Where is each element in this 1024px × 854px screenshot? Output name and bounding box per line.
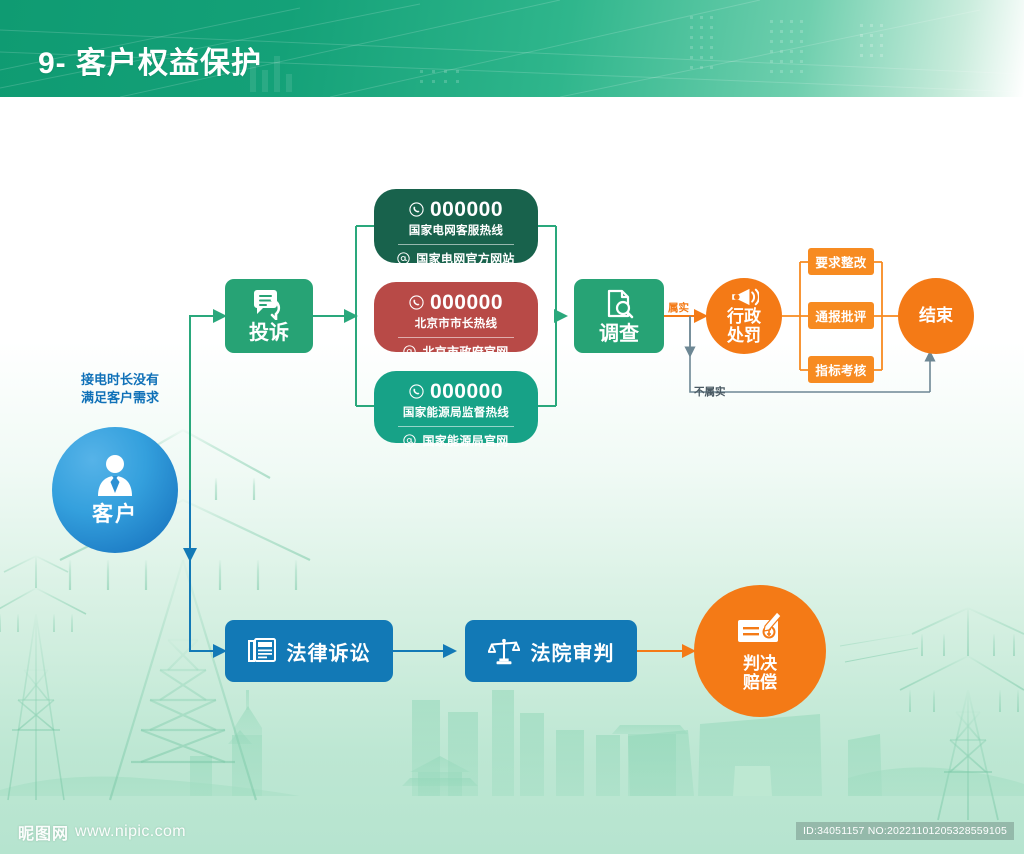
megaphone-icon	[729, 287, 759, 307]
slide-canvas: 9- 客户权益保护	[0, 0, 1024, 854]
investigation-label: 调查	[599, 324, 639, 344]
hotline-name: 北京市市长热线	[388, 315, 524, 331]
document-search-icon	[603, 289, 635, 321]
hotline-number-row: 000000	[388, 292, 524, 313]
node-end[interactable]: 结束	[898, 278, 974, 354]
card-divider	[398, 426, 514, 427]
node-court-trial[interactable]: 法院审判	[465, 620, 637, 682]
at-icon	[403, 345, 416, 358]
complaint-label: 投诉	[249, 323, 289, 343]
node-verdict-compensation[interactable]: 判决 赔偿	[694, 585, 826, 717]
customer-label: 客户	[92, 498, 138, 528]
verdict-label-line1: 判决	[743, 654, 777, 673]
hotline-number-row: 000000	[388, 199, 524, 220]
chip-require-rectification[interactable]: 要求整改	[808, 248, 874, 275]
customer-note: 接电时长没有 满足客户需求	[58, 371, 182, 406]
hotline-number: 000000	[430, 199, 503, 220]
hotline-number: 000000	[430, 292, 503, 313]
node-complaint[interactable]: 投诉	[225, 279, 313, 353]
hotline-card-beijing-mayor[interactable]: 000000 北京市市长热线 北京市政府官网	[374, 282, 538, 352]
phone-icon	[409, 295, 424, 310]
customer-note-line1: 接电时长没有	[58, 371, 182, 389]
watermark: 昵图网 www.nipic.com	[18, 820, 186, 844]
cheque-icon	[735, 610, 785, 650]
verdict-label-line2: 赔偿	[743, 673, 777, 692]
edge-label-unsubstantiated: 不属实	[694, 384, 726, 399]
penalty-label-line2: 处罚	[727, 326, 761, 345]
node-administrative-penalty[interactable]: 行政 处罚	[706, 278, 782, 354]
node-legal-litigation[interactable]: 法律诉讼	[225, 620, 393, 682]
hotline-name: 国家能源局监督热线	[388, 404, 524, 420]
chip-public-criticism[interactable]: 通报批评	[808, 302, 874, 329]
phone-icon	[409, 384, 424, 399]
scales-icon	[488, 637, 520, 665]
hotline-number-row: 000000	[388, 381, 524, 402]
hotline-website-row: 国家电网官方网站	[388, 250, 524, 267]
hotline-name: 国家电网客服热线	[388, 222, 524, 238]
chat-bubble-icon	[252, 290, 286, 320]
hotline-website-row: 北京市政府官网	[388, 343, 524, 360]
hotline-website-row: 国家能源局官网	[388, 432, 524, 449]
watermark-url: www.nipic.com	[75, 823, 186, 841]
node-investigation[interactable]: 调查	[574, 279, 664, 353]
edge-label-substantiated: 属实	[668, 300, 689, 315]
watermark-brand: 昵图网	[18, 820, 69, 844]
node-customer[interactable]: 客户	[52, 427, 178, 553]
card-divider	[398, 244, 514, 245]
customer-note-line2: 满足客户需求	[58, 389, 182, 407]
hotline-card-energy-bureau[interactable]: 000000 国家能源局监督热线 国家能源局官网	[374, 371, 538, 443]
hotline-website: 国家电网官方网站	[416, 250, 514, 267]
penalty-label-line1: 行政	[727, 307, 761, 326]
hotline-card-state-grid[interactable]: 000000 国家电网客服热线 国家电网官方网站	[374, 189, 538, 263]
chip-index-assessment[interactable]: 指标考核	[808, 356, 874, 383]
legal-litigation-label: 法律诉讼	[287, 637, 371, 666]
hotline-website: 北京市政府官网	[422, 343, 508, 360]
court-trial-label: 法院审判	[531, 637, 615, 666]
card-divider	[398, 337, 514, 338]
at-icon	[403, 434, 416, 447]
person-icon	[92, 452, 138, 496]
newspaper-icon	[248, 638, 276, 664]
phone-icon	[409, 202, 424, 217]
end-label: 结束	[919, 306, 953, 325]
hotline-website: 国家能源局官网	[422, 432, 508, 449]
at-icon	[397, 252, 410, 265]
hotline-number: 000000	[430, 381, 503, 402]
image-id-badge: ID:34051157 NO:20221101205328559105	[796, 822, 1014, 840]
